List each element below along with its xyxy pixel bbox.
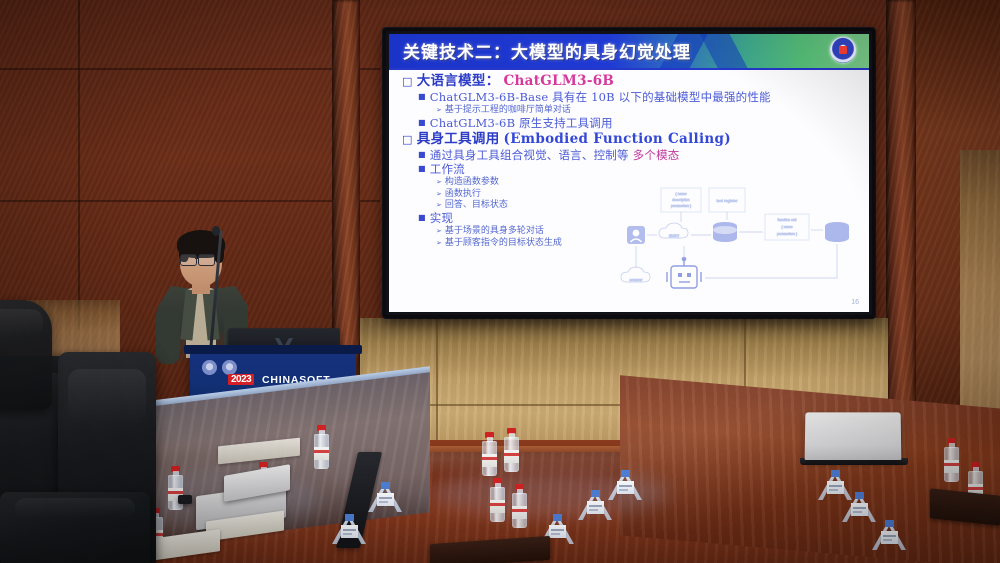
conference-room-photo: 关键技术二：大模型的具身幻觉处理 query { name descriptio… (0, 0, 1000, 563)
nameplate-tab (831, 470, 840, 477)
water-bottle (314, 425, 329, 469)
wall-seam (0, 68, 380, 70)
nameplate-card (341, 525, 358, 538)
acrylic-name-card-holder (872, 520, 906, 550)
bullet-highlight: (Embodied Function Calling) (504, 133, 731, 147)
nameplate-card (587, 501, 604, 514)
nameplate-card (617, 481, 634, 494)
bullet-marker-arrow: ➢ (436, 239, 442, 248)
presentation-display: 关键技术二：大模型的具身幻觉处理 query { name descriptio… (383, 28, 875, 318)
bullet-marker-square-filled: ■ (418, 212, 426, 225)
bullet-level3: ➢ 函数执行 (436, 190, 859, 199)
bullet-text: 基于场景的具身多轮对话 (445, 227, 544, 236)
water-bottle (490, 478, 505, 522)
bottle-label (490, 500, 505, 513)
bullet-marker-square-filled: ■ (418, 149, 426, 162)
bottle-label (482, 454, 497, 467)
podium-year-badge: 2023 (228, 374, 254, 385)
nameplate-card (851, 503, 868, 516)
nameplate-tab (855, 492, 864, 499)
nameplate-card (881, 531, 898, 544)
bullet-text: 通过具身工具组合视觉、语言、控制等 (430, 149, 629, 161)
slide-title-underline (389, 68, 869, 70)
bullet-text: ChatGLM3-6B-Base 具有在 10B 以下的基础模型中最强的性能 (430, 91, 771, 103)
bullet-level3: ➢ 基于顾客指令的目标状态生成 (436, 239, 859, 248)
nameplate-card (549, 525, 566, 538)
bullet-level3: ➢ 构造函数参数 (436, 178, 859, 187)
bullet-level2: ■ ChatGLM3-6B 原生支持工具调用 (418, 117, 859, 130)
bottle-label (944, 460, 959, 473)
bullet-marker-square-hollow: □ (402, 133, 413, 146)
acrylic-name-card-holder (332, 514, 366, 544)
bullet-text: 基于顾客指令的目标状态生成 (445, 239, 562, 248)
bullet-text: ChatGLM3-6B 原生支持工具调用 (430, 117, 613, 129)
apple-logo-icon (847, 428, 858, 441)
bullet-text: 回答、目标状态 (445, 201, 508, 210)
nameplate-card (377, 493, 394, 506)
bullet-text: 具身工具调用 (417, 133, 500, 147)
microphone-head (212, 226, 220, 236)
wall-seam (78, 0, 80, 330)
eyeglasses-lens-right (198, 254, 215, 266)
bullet-highlight: ChatGLM3-6B (504, 75, 615, 89)
bullet-text: 大语言模型： (417, 75, 500, 89)
bullet-text: 构造函数参数 (445, 178, 499, 187)
wall-seam (0, 200, 380, 202)
nameplate-tab (591, 490, 600, 497)
slide-surface: 关键技术二：大模型的具身幻觉处理 query { name descriptio… (389, 34, 869, 312)
black-leather-chair-seat (0, 492, 150, 563)
bottle-label (314, 447, 329, 460)
bullet-text: 函数执行 (445, 190, 481, 199)
water-bottle (482, 432, 497, 476)
water-bottle (504, 428, 519, 472)
bullet-text: 工作流 (430, 163, 465, 175)
bullet-marker-arrow: ➢ (436, 201, 442, 210)
nameplate-tab (621, 470, 630, 477)
conference-emblem-left (202, 360, 217, 375)
bullet-marker-square-filled: ■ (418, 91, 426, 104)
slide-page-number: 16 (851, 299, 859, 306)
bullet-level3: ➢ 基于场景的具身多轮对话 (436, 227, 859, 236)
eyeglasses-lens-left (180, 254, 197, 266)
bullet-marker-arrow: ➢ (436, 227, 442, 236)
acrylic-name-card-holder (608, 470, 642, 500)
nameplate-tab (553, 514, 562, 521)
speaker-arm-left (156, 306, 180, 364)
eyeglasses-bridge (195, 258, 199, 259)
acrylic-name-card-holder (578, 490, 612, 520)
bullet-marker-square-filled: ■ (418, 163, 426, 176)
bullet-level1: □ 具身工具调用 (Embodied Function Calling) (402, 133, 859, 147)
bullet-level2: ■ ChatGLM3-6B-Base 具有在 10B 以下的基础模型中最强的性能 (418, 91, 859, 104)
acrylic-name-card-holder (368, 482, 402, 512)
bullet-text: 实现 (430, 212, 453, 224)
bottle-label (504, 450, 519, 463)
institution-seal-logo (830, 37, 856, 63)
bullet-marker-arrow: ➢ (436, 190, 442, 199)
bullet-marker-square-filled: ■ (418, 117, 426, 130)
bullet-level2: ■ 工作流 (418, 163, 859, 176)
bullet-marker-arrow: ➢ (436, 178, 442, 187)
right-table-wing (620, 375, 1000, 563)
nameplate-tab (345, 514, 354, 521)
bullet-level3: ➢ 回答、目标状态 (436, 201, 859, 210)
wall-seam (436, 318, 438, 454)
nameplate-tab (381, 482, 390, 489)
slide-title: 关键技术二：大模型的具身幻觉处理 (403, 38, 691, 63)
bullet-highlight: 多个模态 (633, 149, 680, 161)
water-bottle (512, 484, 527, 528)
bottle-label (512, 506, 527, 519)
bullet-level2: ■ 通过具身工具组合视觉、语言、控制等 多个模态 (418, 149, 859, 162)
bullet-text: 基于提示工程的咖啡厅简单对话 (445, 106, 571, 115)
bullet-level3: ➢ 基于提示工程的咖啡厅简单对话 (436, 106, 859, 115)
macbook-laptop (805, 412, 902, 460)
smartphone (178, 495, 192, 504)
bullet-marker-square-hollow: □ (402, 75, 413, 88)
acrylic-name-card-holder (842, 492, 876, 522)
podium-top-edge (184, 345, 362, 354)
bullet-level1: □ 大语言模型： ChatGLM3-6B (402, 75, 859, 89)
conference-emblem-right (222, 360, 237, 375)
bullet-marker-arrow: ➢ (436, 106, 442, 115)
black-leather-chair-headrest (0, 300, 52, 410)
water-bottle (944, 438, 959, 482)
slide-bullet-list: □ 大语言模型： ChatGLM3-6B ■ ChatGLM3-6B-Base … (402, 75, 859, 306)
bullet-level2: ■ 实现 (418, 212, 859, 225)
nameplate-tab (885, 520, 894, 527)
